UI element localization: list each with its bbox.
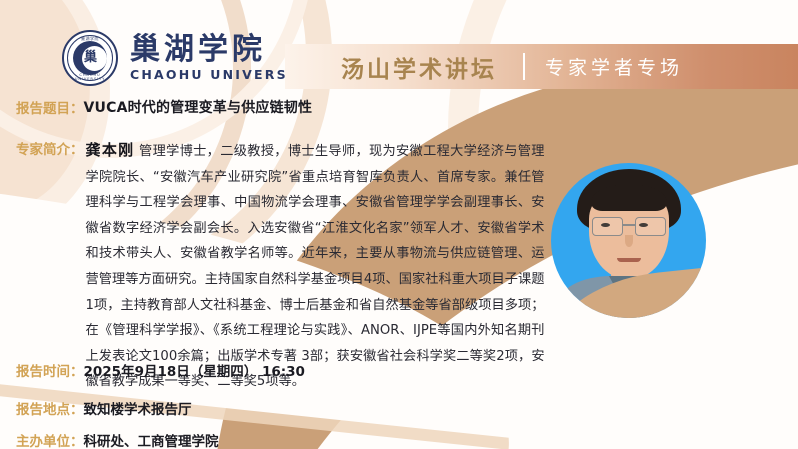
- place-row: 报告地点： 致知楼学术报告厅: [16, 398, 192, 418]
- seminar-poster: 巢 巢湖学院 CHAOHU UNIVERSITY 巢湖学院 CHAOHU UNI…: [0, 0, 798, 449]
- bio-label: 专家简介：: [16, 138, 84, 158]
- chaohu-university-seal-icon: 巢 巢湖学院 CHAOHU UNIVERSITY: [62, 30, 118, 86]
- portrait-glasses: [590, 217, 668, 234]
- time-value: 2025年9月18日（星期四） 16:30: [84, 360, 305, 380]
- speaker-portrait-photo: [551, 163, 706, 318]
- lecture-series-banner: 汤山学术讲坛 专家学者专场: [285, 44, 798, 89]
- time-label: 报告时间：: [16, 360, 84, 380]
- time-row: 报告时间： 2025年9月18日（星期四） 16:30: [16, 360, 305, 380]
- banner-title: 汤山学术讲坛: [341, 50, 497, 84]
- bio-paragraph: 龚本刚 管理学博士，二级教授，博士生导师，现为安徽工程大学经济与管理学院院长、“…: [86, 138, 545, 395]
- topic-label: 报告题目：: [16, 97, 84, 117]
- host-value: 科研处、工商管理学院: [84, 430, 219, 449]
- glasses-bridge: [622, 224, 636, 226]
- host-row: 主办单位： 科研处、工商管理学院: [16, 430, 219, 449]
- topic-value: VUCA时代的管理变革与供应链韧性: [84, 97, 313, 117]
- portrait-forehead-hair: [591, 185, 667, 211]
- place-label: 报告地点：: [16, 398, 84, 418]
- place-value: 致知楼学术报告厅: [84, 398, 192, 418]
- glasses-lens-left: [592, 217, 623, 236]
- portrait-nose: [625, 235, 633, 247]
- speaker-name: 龚本刚: [86, 141, 135, 159]
- host-label: 主办单位：: [16, 430, 84, 449]
- speaker-bio-row: 专家简介： 龚本刚 管理学博士，二级教授，博士生导师，现为安徽工程大学经济与管理…: [16, 138, 556, 395]
- seal-top-text: 巢湖学院: [64, 36, 116, 42]
- topic-row: 报告题目： VUCA时代的管理变革与供应链韧性: [16, 97, 312, 117]
- university-logo: 巢 巢湖学院 CHAOHU UNIVERSITY 巢湖学院 CHAOHU UNI…: [62, 30, 317, 86]
- glasses-lens-right: [635, 217, 666, 236]
- bio-text: 管理学博士，二级教授，博士生导师，现为安徽工程大学经济与管理学院院长、“安徽汽车…: [86, 144, 545, 389]
- banner-separator: [523, 53, 525, 80]
- seal-bottom-text: CHAOHU UNIVERSITY: [64, 73, 116, 81]
- seal-center-glyph: 巢: [84, 49, 100, 67]
- portrait-mouth: [617, 258, 641, 262]
- banner-subtitle: 专家学者专场: [545, 53, 683, 80]
